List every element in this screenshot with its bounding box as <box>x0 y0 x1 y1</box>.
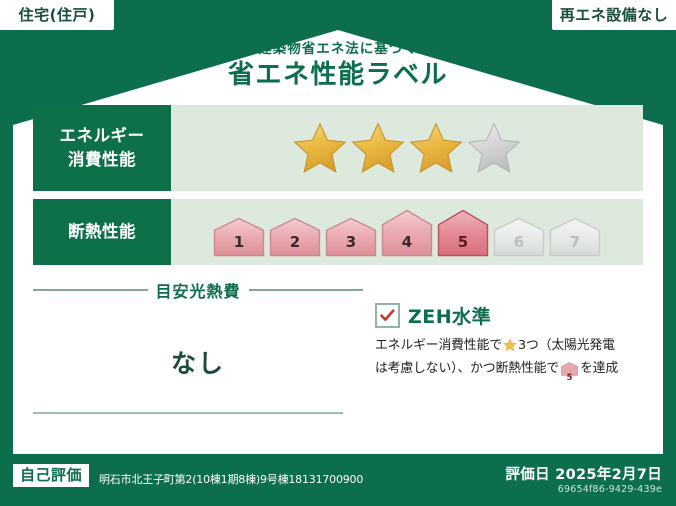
utility-cost-title: 目安光熱費 <box>156 278 241 302</box>
energy-label-line2: 消費性能 <box>68 148 136 172</box>
evaluation-date-label: 評価日 <box>506 467 550 483</box>
insulation-label: 断熱性能 <box>68 220 136 244</box>
property-address: 明石市北王子町第2(10棟1期8棟)9号棟18131700900 <box>99 471 363 487</box>
inline-grade-number: 5 <box>561 374 578 383</box>
grade-step: 7 <box>549 207 601 257</box>
grade-scale: 1234567 <box>213 207 601 257</box>
grade-step: 2 <box>269 207 321 257</box>
energy-performance-label: 住宅(住戸) 再エネ設備なし 建築物省エネ法に基づく 省エネ性能ラベル エネルギ… <box>0 0 676 506</box>
inline-grade-icon: 5 <box>561 362 578 383</box>
heading-rule-left <box>33 289 148 291</box>
energy-label-line1: エネルギー <box>60 124 145 148</box>
star-empty-icon <box>466 121 522 175</box>
utility-cost-block: 目安光熱費 なし <box>33 278 363 428</box>
grade-step: 6 <box>493 207 545 257</box>
insulation-performance-row: 断熱性能 1234567 <box>33 199 643 265</box>
energy-performance-label-cell: エネルギー 消費性能 <box>33 105 171 191</box>
evaluation-date: 評価日 2025年2月7日 <box>506 463 663 484</box>
zeh-checkbox <box>375 303 400 328</box>
zeh-block: ZEH水準 エネルギー消費性能で 3つ（太陽光発電 は考慮しない）、かつ断熱性能… <box>363 278 643 428</box>
zeh-desc-stars: 3つ（太陽光発電 <box>518 338 615 353</box>
insulation-performance-label-cell: 断熱性能 <box>33 199 171 265</box>
grade-step: 3 <box>325 207 377 257</box>
house-icon <box>269 217 321 257</box>
evaluation-date-value: 2025年2月7日 <box>555 467 662 483</box>
inline-star-icon <box>503 338 517 359</box>
evaluation-id: 69654f86-9429-439e <box>558 484 662 495</box>
house-icon <box>549 217 601 257</box>
grade-step: 4 <box>381 207 433 257</box>
house-icon <box>325 217 377 257</box>
heading-rule-right <box>249 289 364 291</box>
star-rating <box>292 121 522 175</box>
energy-performance-value <box>171 105 643 191</box>
utility-cost-heading: 目安光熱費 <box>33 278 363 302</box>
zeh-title-row: ZEH水準 <box>375 302 643 329</box>
badge-building-type: 住宅(住戸) <box>0 0 114 30</box>
label-footer: 自己評価 明石市北王子町第2(10棟1期8棟)9号棟18131700900 評価… <box>0 458 676 506</box>
star-filled-icon <box>408 121 464 175</box>
zeh-desc-part1: エネルギー消費性能で <box>375 338 502 353</box>
house-icon <box>381 209 433 257</box>
house-icon <box>213 217 265 257</box>
utility-cost-bottom-rule <box>33 412 343 414</box>
insulation-performance-value: 1234567 <box>171 199 643 265</box>
zeh-desc-part2: は考慮しない）、かつ断熱性能で <box>375 361 559 376</box>
zeh-desc-part3: を達成 <box>580 361 618 376</box>
self-assessment-badge: 自己評価 <box>13 464 89 487</box>
badge-renewable-equipment: 再エネ設備なし <box>552 0 676 30</box>
grade-step: 5 <box>437 207 489 257</box>
house-icon <box>437 209 489 257</box>
star-filled-icon <box>350 121 406 175</box>
utility-cost-value: なし <box>33 344 363 380</box>
energy-performance-row: エネルギー 消費性能 <box>33 105 643 191</box>
star-filled-icon <box>292 121 348 175</box>
zeh-title: ZEH水準 <box>408 302 491 329</box>
grade-step: 1 <box>213 207 265 257</box>
lower-section: 目安光熱費 なし ZEH水準 エネルギー消費性能で 3つ（太陽光発電 <box>33 278 643 428</box>
house-icon <box>493 217 545 257</box>
performance-rows: エネルギー 消費性能 断熱性能 1234567 <box>33 105 643 265</box>
zeh-description: エネルギー消費性能で 3つ（太陽光発電 は考慮しない）、かつ断熱性能で 5 を達… <box>375 336 643 383</box>
